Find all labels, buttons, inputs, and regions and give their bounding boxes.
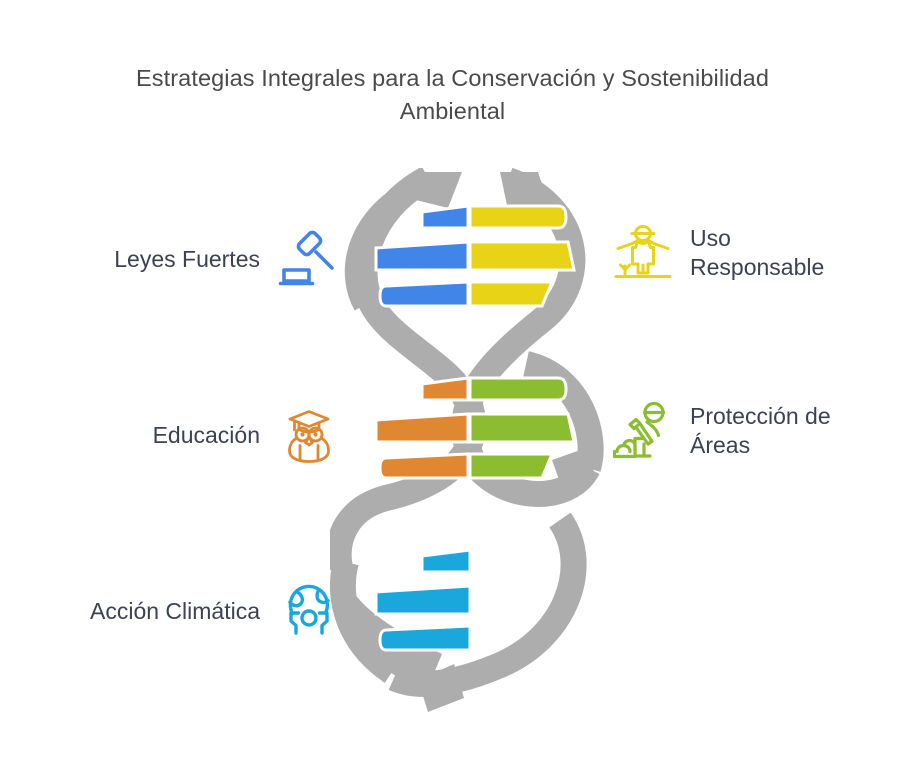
farmer-icon	[612, 222, 674, 284]
item-label-leyes-fuertes: Leyes Fuertes	[114, 245, 260, 274]
rung-left-blue-1	[422, 206, 468, 228]
infographic-canvas: Estrategias Integrales para la Conservac…	[0, 0, 905, 766]
item-leyes-fuertes[interactable]: Leyes Fuertes	[10, 228, 340, 290]
rung-left-cyan-1	[422, 550, 470, 572]
item-proteccion-de-areas[interactable]: Protección de Áreas	[612, 400, 902, 462]
item-accion-climatica[interactable]: Acción Climática	[10, 580, 340, 642]
item-uso-responsable[interactable]: Uso Responsable	[612, 222, 902, 284]
rung-left-blue-2	[376, 242, 468, 270]
rung-right-green-3	[470, 454, 552, 478]
rung-right-green-1	[470, 378, 566, 400]
item-label-uso-responsable: Uso Responsable	[690, 224, 824, 282]
rung-right-yellow-1	[470, 206, 566, 228]
item-label-proteccion-de-areas: Protección de Áreas	[690, 402, 831, 460]
helix-rung-group-cyan	[376, 550, 470, 650]
rung-left-cyan-3	[380, 626, 470, 650]
page-title: Estrategias Integrales para la Conservac…	[100, 62, 805, 128]
rung-left-blue-3	[380, 282, 468, 306]
rung-left-orange-3	[380, 454, 468, 478]
item-label-accion-climatica: Acción Climática	[90, 597, 260, 626]
park-ranger-icon	[612, 400, 674, 462]
rung-left-orange-1	[422, 378, 468, 400]
rung-right-yellow-3	[470, 282, 552, 306]
rung-left-orange-2	[376, 414, 468, 442]
item-label-educacion: Educación	[153, 421, 260, 450]
rung-left-cyan-2	[376, 586, 470, 614]
helix-rung-group-orange-green	[376, 378, 574, 478]
rung-right-green-2	[470, 414, 574, 442]
rung-right-yellow-2	[470, 242, 574, 270]
dna-double-helix	[330, 168, 615, 713]
helix-rung-group-blue-yellow	[376, 206, 574, 306]
item-educacion[interactable]: Educación	[10, 404, 340, 466]
